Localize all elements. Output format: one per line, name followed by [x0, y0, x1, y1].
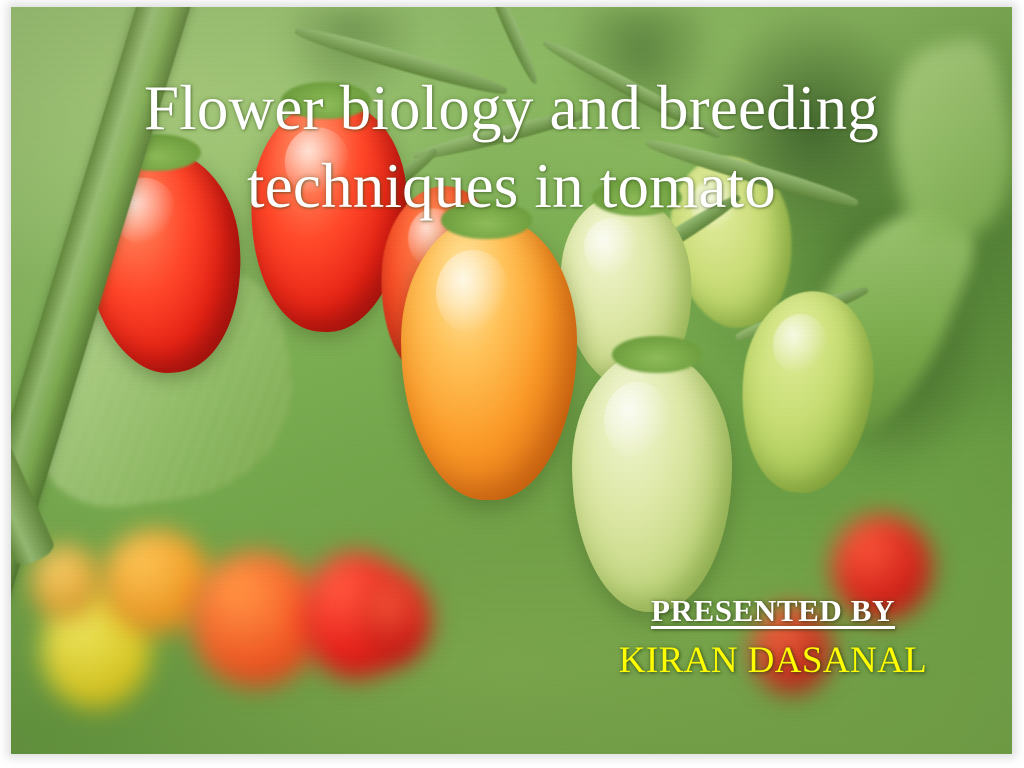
presentation-slide: Flower biology and breeding techniques i… — [0, 0, 1024, 768]
photo-grain — [11, 7, 1012, 754]
title-photo-frame: Flower biology and breeding techniques i… — [11, 7, 1012, 754]
tomato-vine-photo — [11, 7, 1012, 754]
